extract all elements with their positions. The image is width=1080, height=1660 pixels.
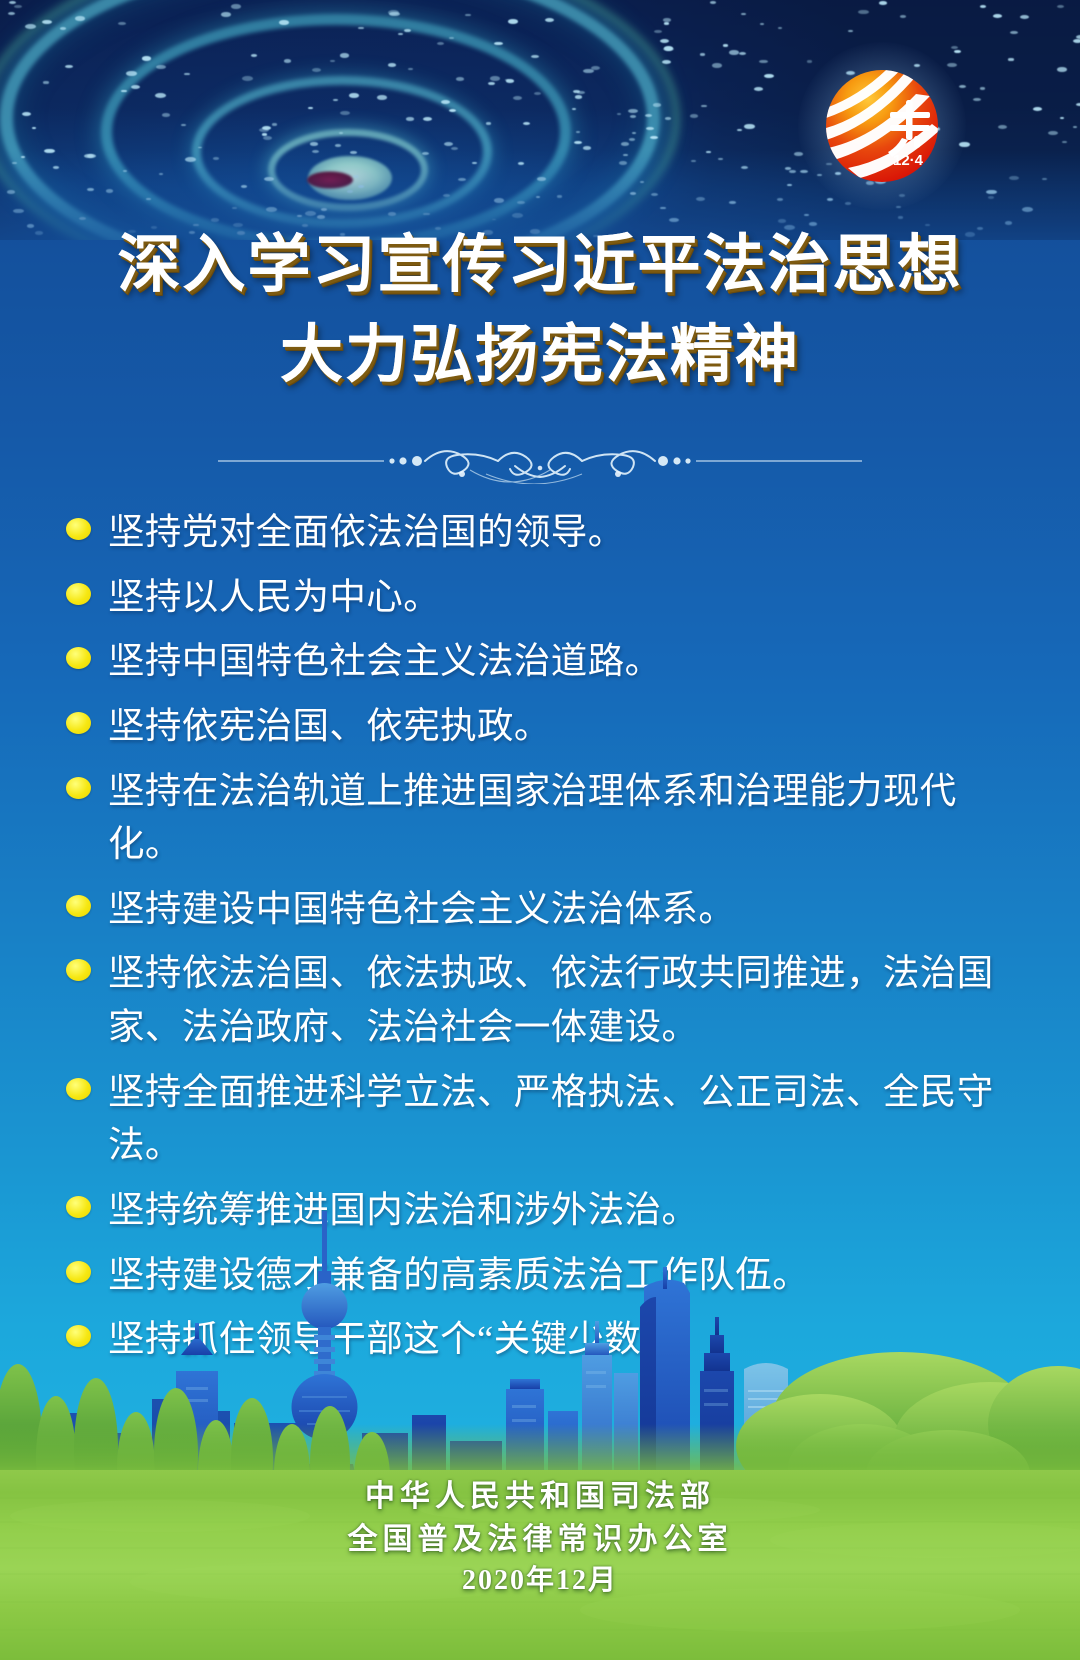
- ceiling-star-light: [545, 18, 554, 22]
- ceiling-star-light: [575, 95, 582, 98]
- bullet-dot-icon: [66, 583, 91, 605]
- poster-root: 12·4 深入学习宣传习近平法治思想 大力弘扬宪法精神: [0, 0, 1080, 1660]
- ceiling-star-light: [388, 63, 397, 67]
- bullet-dot-icon: [66, 895, 91, 917]
- ceiling-star-light: [754, 87, 763, 91]
- ceiling-star-light: [312, 68, 321, 72]
- ceiling-star-light: [486, 122, 492, 125]
- ceiling-star-light: [534, 92, 541, 95]
- ceiling-star-light: [349, 93, 359, 97]
- ceiling-star-light: [444, 142, 453, 146]
- ceiling-star-light: [993, 14, 1002, 18]
- ceiling-star-light: [778, 27, 782, 29]
- ceiling-star-light: [75, 16, 85, 21]
- ceiling-star-light: [729, 50, 739, 54]
- ceiling-star-light: [629, 138, 635, 141]
- ceiling-star-light: [8, 12, 15, 15]
- ceiling-star-light: [1008, 58, 1013, 60]
- ceiling-star-light: [900, 15, 906, 18]
- ceiling-star-light: [1073, 126, 1077, 128]
- ceiling-star-light: [60, 27, 66, 30]
- ceiling-star-light: [259, 128, 269, 133]
- ceiling-star-light: [181, 124, 187, 127]
- ceiling-star-light: [423, 117, 432, 121]
- ceiling-star-light: [406, 117, 413, 120]
- divider-flourish: [0, 430, 1080, 484]
- ceiling-star-light: [951, 46, 958, 49]
- ceiling-star-light: [576, 131, 580, 133]
- ceiling-star-light: [65, 65, 74, 69]
- ceiling-star-light: [198, 147, 202, 149]
- ceiling-star-light: [737, 129, 742, 131]
- ceiling-star-light: [456, 77, 464, 81]
- title-line-1: 深入学习宣传习近平法治思想: [0, 226, 1080, 304]
- ceiling-star-light: [723, 44, 728, 46]
- ceiling-star-light: [848, 30, 853, 32]
- ceiling-star-light: [1057, 5, 1065, 8]
- list-item-label: 坚持党对全面依法治国的领导。: [108, 505, 625, 559]
- list-item-label: 坚持依宪治国、依宪执政。: [108, 699, 551, 753]
- ceiling-star-light: [263, 136, 273, 140]
- ceiling-star-light: [690, 114, 698, 118]
- ceiling-star-light: [700, 53, 705, 55]
- city-park-scene: 中华人民共和国司法部 全国普及法律常识办公室 2020年12月: [0, 1120, 1080, 1660]
- ceiling-star-light: [630, 115, 636, 118]
- ceiling-star-light: [665, 117, 670, 119]
- ceiling-star-light: [251, 54, 257, 57]
- ceiling-star-light: [490, 76, 500, 81]
- ceiling-star-light: [1033, 107, 1042, 111]
- ceiling-star-light: [617, 113, 621, 115]
- ceiling-star-light: [121, 90, 127, 93]
- ceiling-star-light: [1057, 67, 1067, 72]
- ceiling-star-light: [739, 52, 746, 55]
- ceiling-star-light: [155, 93, 166, 98]
- ceiling-star-light: [645, 114, 652, 117]
- ceiling-star-light: [398, 33, 403, 35]
- list-item: 坚持党对全面依法治国的领导。: [66, 505, 1018, 559]
- ceiling-star-light: [531, 55, 539, 59]
- ceiling-star-light: [653, 103, 660, 106]
- ceiling-star-light: [664, 22, 670, 25]
- list-item: 坚持以人民为中心。: [66, 570, 1018, 624]
- ceiling-star-light: [710, 1, 717, 4]
- ceiling-star-light: [1076, 103, 1080, 106]
- ceiling-star-light: [1060, 117, 1064, 119]
- ceiling-star-light: [1073, 39, 1080, 43]
- bullet-dot-icon: [66, 518, 91, 540]
- ceiling-star-light: [43, 81, 48, 83]
- bullet-dot-icon: [66, 959, 91, 981]
- list-item-label: 坚持依法治国、依法执政、依法行政共同推进，法治国家、法治政府、法治社会一体建设。: [108, 946, 1018, 1053]
- ceiling-star-light: [408, 68, 413, 70]
- ceiling-star-light: [32, 127, 36, 129]
- ceiling-star-light: [156, 65, 166, 69]
- ceiling-star-light: [14, 5, 22, 9]
- ceiling-star-light: [1048, 131, 1058, 135]
- ceiling-star-light: [621, 142, 630, 146]
- logo-date-text: 12·4: [893, 152, 924, 169]
- list-item: 坚持在法治轨道上推进国家治理体系和治理能力现代化。: [66, 764, 1018, 871]
- list-item-label: 坚持以人民为中心。: [108, 570, 440, 624]
- ceiling-star-light: [759, 60, 767, 64]
- ceiling-star-light: [858, 10, 868, 15]
- ceiling-star-light: [744, 124, 754, 129]
- ceiling-star-light: [1010, 31, 1018, 35]
- ceiling-star-light: [807, 60, 812, 62]
- ceiling-star-light: [572, 108, 576, 110]
- footer-org-line-1: 中华人民共和国司法部: [0, 1476, 1080, 1519]
- footer-org-line-2: 全国普及法律常识办公室: [0, 1519, 1080, 1562]
- ceiling-star-light: [142, 56, 152, 60]
- page-title: 深入学习宣传习近平法治思想 大力弘扬宪法精神: [0, 226, 1080, 394]
- ceiling-star-light: [22, 112, 31, 116]
- ceiling-star-light: [741, 13, 746, 15]
- ceiling-star-light: [662, 60, 671, 64]
- ceiling-star-light: [980, 87, 985, 89]
- list-item-label: 坚持在法治轨道上推进国家治理体系和治理能力现代化。: [108, 764, 1018, 871]
- ceiling-star-light: [330, 60, 334, 62]
- ceiling-star-light: [333, 99, 337, 101]
- list-item-label: 坚持中国特色社会主义法治道路。: [108, 634, 662, 688]
- list-item: 坚持中国特色社会主义法治道路。: [66, 634, 1018, 688]
- ceiling-star-light: [308, 107, 313, 109]
- ceiling-star-light: [959, 85, 967, 89]
- ceiling-star-light: [879, 1, 887, 5]
- ceiling-star-light: [284, 59, 291, 62]
- ceiling-star-light: [335, 144, 340, 146]
- ceiling-star-light: [377, 95, 388, 100]
- ceiling-star-light: [574, 141, 582, 145]
- ceiling-star-light: [437, 42, 444, 45]
- ceiling-star-light: [449, 109, 457, 112]
- ceiling-star-light: [947, 63, 957, 67]
- ceiling-star-light: [998, 125, 1007, 129]
- ceiling-star-light: [231, 4, 241, 9]
- ceiling-star-light: [340, 53, 349, 57]
- svg-text:12·4: 12·4: [893, 152, 924, 169]
- ceiling-star-light: [340, 111, 349, 115]
- ceiling-star-light: [1020, 15, 1029, 19]
- ceiling-star-light: [358, 27, 364, 30]
- logo-disc: 12·4: [824, 68, 940, 184]
- bullet-dot-icon: [66, 647, 91, 669]
- ceiling-star-light: [513, 96, 522, 100]
- ceiling-star-light: [449, 37, 454, 39]
- ceiling-star-light: [404, 29, 410, 32]
- ceiling-star-light: [42, 20, 52, 24]
- ceiling-star-light: [764, 74, 773, 78]
- ceiling-star-light: [494, 42, 502, 46]
- ceiling-star-light: [712, 63, 723, 68]
- ceiling-star-light: [973, 98, 981, 102]
- ceiling-star-light: [654, 30, 662, 34]
- ceiling-star-light: [664, 46, 673, 50]
- ceiling-star-light: [465, 14, 471, 17]
- ceiling-star-light: [184, 73, 190, 76]
- ceiling-star-light: [650, 136, 657, 139]
- ceiling-star-light: [628, 109, 637, 113]
- ceiling-star-light: [441, 100, 450, 104]
- ceiling-star-light: [310, 142, 318, 145]
- ceiling-star-light: [272, 123, 277, 125]
- list-item: 坚持依宪治国、依宪执政。: [66, 699, 1018, 753]
- footer-date: 2020年12月: [0, 1561, 1080, 1602]
- ornamental-divider: [0, 430, 1080, 484]
- list-item-label: 坚持建设中国特色社会主义法治体系。: [108, 882, 735, 936]
- ceiling-star-light: [505, 79, 509, 81]
- ceiling-star-light: [131, 85, 140, 89]
- ceiling-star-light: [279, 20, 290, 25]
- ceiling-star-light: [25, 24, 36, 29]
- national-constitution-day-logo: 12·4: [824, 68, 940, 184]
- ceiling-star-light: [583, 69, 594, 74]
- bullet-dot-icon: [66, 1078, 91, 1100]
- ceiling-star-light: [954, 50, 961, 53]
- ceiling-star-light: [701, 105, 706, 107]
- list-item: 坚持依法治国、依法执政、依法行政共同推进，法治国家、法治政府、法治社会一体建设。: [66, 946, 1018, 1053]
- ceiling-star-light: [242, 76, 252, 81]
- list-item: 坚持建设中国特色社会主义法治体系。: [66, 882, 1018, 936]
- ceiling-star-light: [162, 113, 170, 117]
- title-line-2: 大力弘扬宪法精神: [0, 316, 1080, 394]
- ceiling-star-light: [646, 127, 654, 130]
- footer: 中华人民共和国司法部 全国普及法律常识办公室 2020年12月: [0, 1476, 1080, 1602]
- ceiling-star-light: [980, 5, 986, 8]
- ceiling-star-light: [9, 1, 17, 5]
- ceiling-star-light: [126, 71, 136, 76]
- bullet-dot-icon: [66, 777, 91, 799]
- ceiling-star-light: [760, 23, 764, 25]
- ceiling-star-light: [1062, 141, 1067, 143]
- ceiling-star-light: [660, 39, 669, 43]
- ceiling-star-light: [488, 82, 494, 85]
- ceiling-star-light: [523, 122, 530, 125]
- ceiling-star-light: [632, 132, 636, 134]
- ceiling-star-light: [118, 22, 126, 26]
- ceiling-star-light: [339, 132, 343, 134]
- bullet-dot-icon: [66, 712, 91, 734]
- ceiling-star-light: [577, 91, 585, 95]
- ceiling-star-light: [508, 19, 519, 24]
- ceiling-star-light: [221, 12, 232, 17]
